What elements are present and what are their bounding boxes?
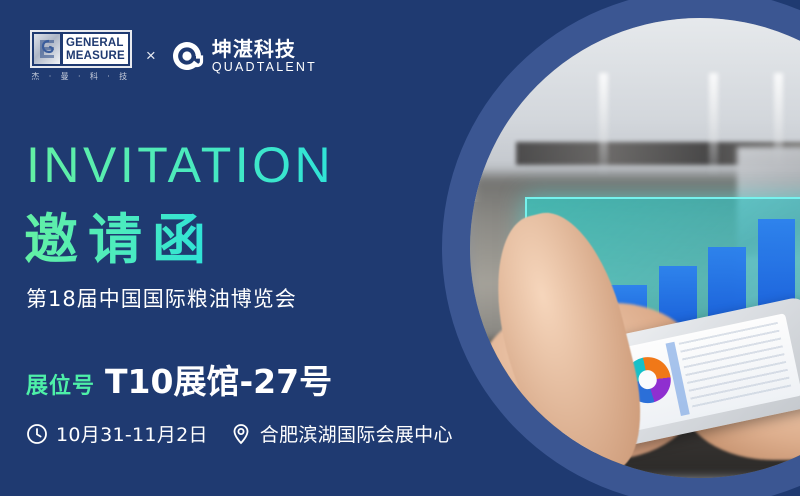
- general-measure-logo-box: GENERAL MEASURE: [30, 30, 132, 68]
- quadtalent-swirl-icon: [170, 39, 204, 73]
- clock-icon: [26, 423, 48, 445]
- factory-post: [599, 73, 608, 174]
- logo-line-1: GENERAL: [66, 37, 125, 49]
- booth-number: T10展馆-27号: [105, 355, 332, 403]
- event-venue-text: 合肥滨湖国际会展中心: [260, 420, 453, 447]
- event-date: 10月31-11月2日: [26, 420, 208, 447]
- quadtalent-wordmark: 坤湛科技 QUADTALENT: [212, 39, 317, 74]
- quadtalent-name-en: QUADTALENT: [212, 60, 317, 74]
- event-date-text: 10月31-11月2日: [56, 420, 208, 447]
- logo-separator-icon: ×: [146, 46, 156, 66]
- headline-chinese: 邀请函: [24, 195, 216, 274]
- event-subtitle: 第18届中国国际粮油博览会: [26, 283, 297, 313]
- logo-row: GENERAL MEASURE 杰 · 曼 · 科 · 技 × 坤湛科技 QUA…: [30, 30, 317, 82]
- general-measure-logo: GENERAL MEASURE 杰 · 曼 · 科 · 技: [30, 30, 132, 82]
- headline-english: INVITATION: [26, 136, 334, 194]
- general-measure-chinese-name: 杰 · 曼 · 科 · 技: [31, 71, 130, 82]
- event-venue: 合肥滨湖国际会展中心: [230, 420, 453, 447]
- event-meta: 10月31-11月2日 合肥滨湖国际会展中心: [26, 420, 453, 447]
- general-measure-mark-icon: [34, 34, 60, 64]
- booth-info: 展位号 T10展馆-27号: [26, 355, 332, 403]
- photo-inner: [470, 18, 800, 478]
- logo-line-2: MEASURE: [66, 50, 125, 62]
- general-measure-wordmark: GENERAL MEASURE: [63, 34, 128, 64]
- phone-screen-list: [679, 321, 792, 411]
- location-pin-icon: [230, 423, 252, 445]
- quadtalent-logo: 坤湛科技 QUADTALENT: [170, 39, 317, 74]
- booth-label: 展位号: [26, 368, 95, 400]
- invitation-poster: GENERAL MEASURE 杰 · 曼 · 科 · 技 × 坤湛科技 QUA…: [0, 0, 800, 496]
- factory-post: [709, 73, 718, 174]
- hero-photo: [470, 18, 800, 478]
- quadtalent-name-cn: 坤湛科技: [212, 39, 317, 60]
